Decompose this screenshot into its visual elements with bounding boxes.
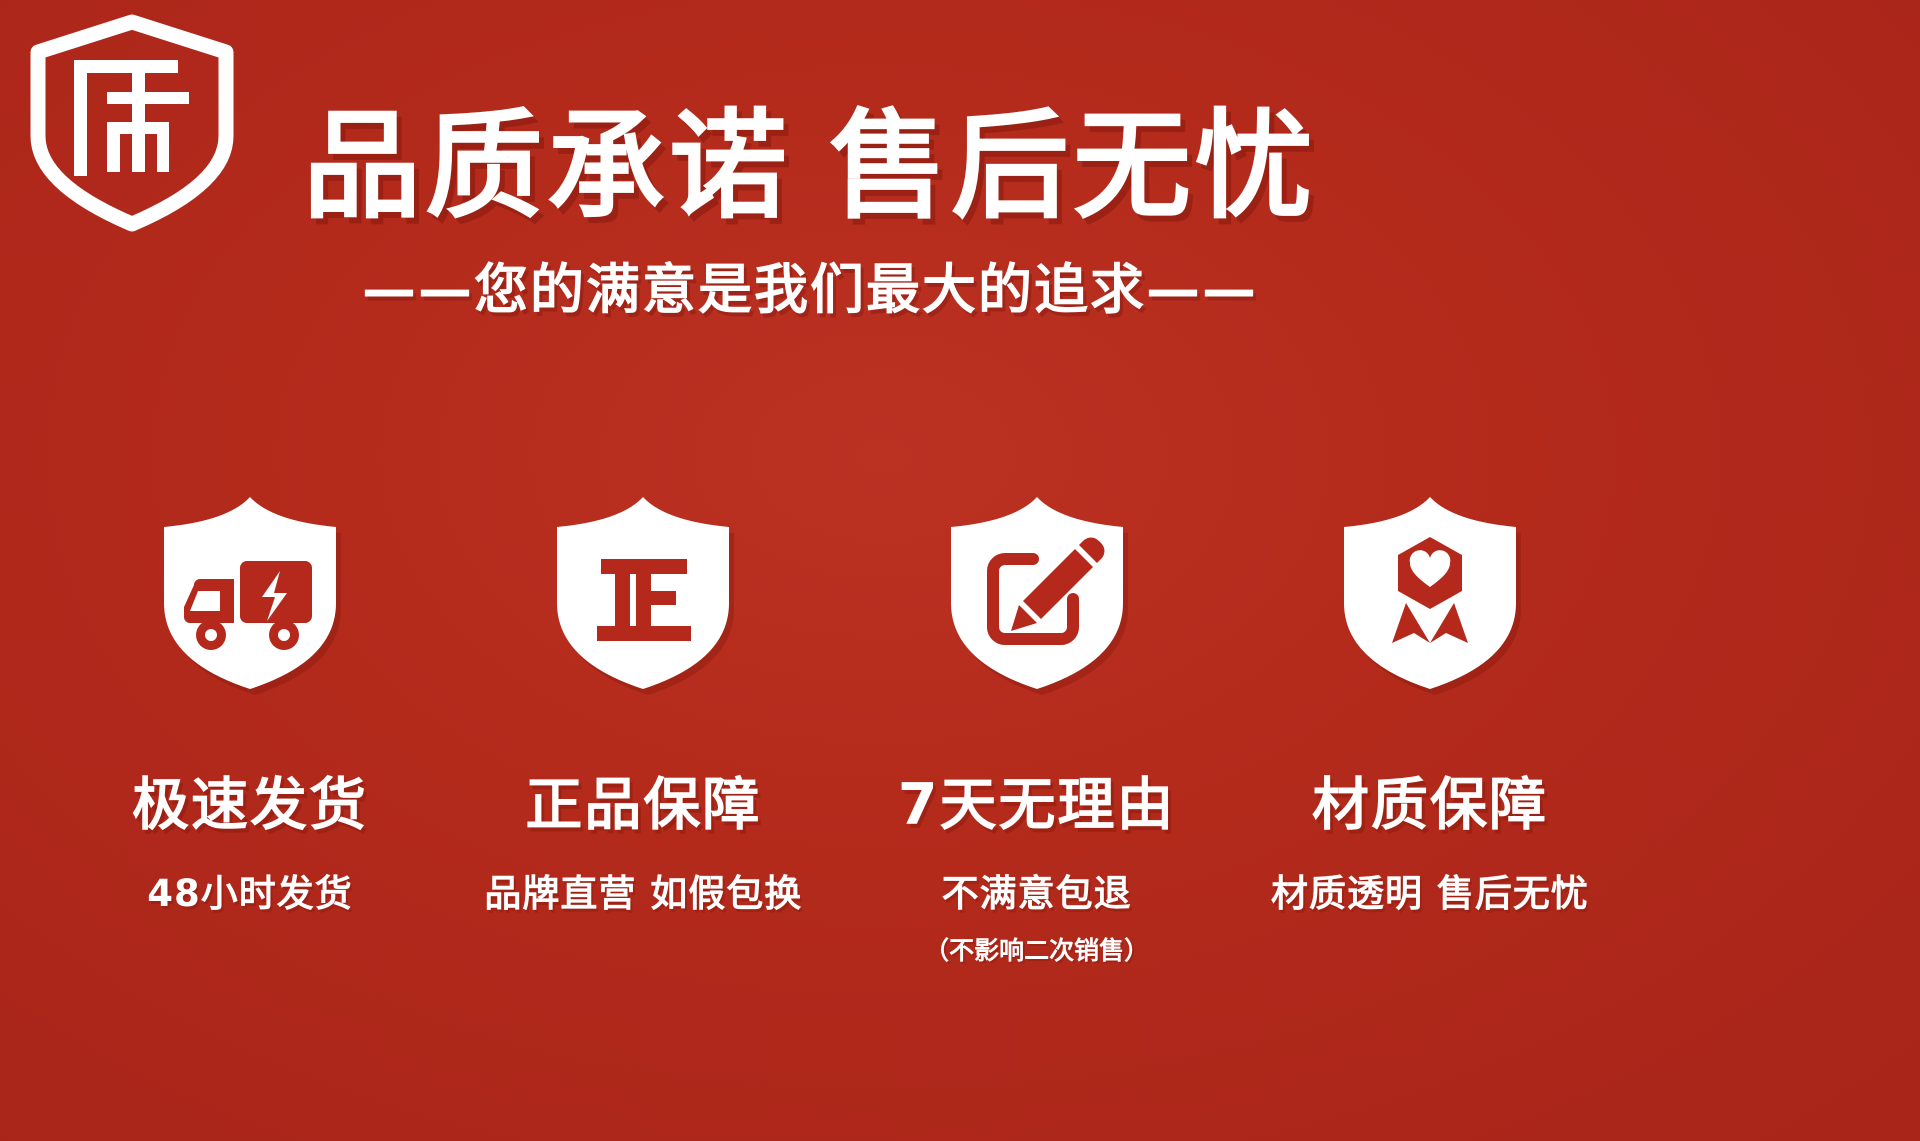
feature-subtitle: 48小时发货 — [147, 863, 353, 917]
feature-item: 7天无理由 不满意包退 （不影响二次销售） — [847, 495, 1227, 967]
feature-item: 极速发货 48小时发货 — [60, 495, 440, 931]
shield-pencil-edit-icon — [949, 495, 1125, 691]
shield-award-ribbon-icon — [1342, 495, 1518, 691]
headline-block: 品质承诺售后无忧 ——您的满意是我们最大的追求—— — [300, 100, 1320, 323]
quality-shield-logo — [12, 8, 252, 238]
feature-list: 极速发货 48小时发货 正品保障 — [60, 495, 1620, 967]
feature-title: 极速发货 — [132, 759, 368, 841]
feature-note: （不影响二次销售） — [924, 931, 1149, 967]
feature-title: 7天无理由 — [898, 759, 1176, 841]
feature-title: 材质保障 — [1312, 759, 1548, 841]
page-title: 品质承诺售后无忧 — [300, 100, 1320, 232]
shield-truck-lightning-icon — [162, 495, 338, 691]
headline-subtitle: ——您的满意是我们最大的追求—— — [300, 258, 1320, 323]
shield-zheng-character-icon — [555, 495, 731, 691]
feature-subtitle: 材质透明 售后无忧 — [1271, 863, 1589, 917]
feature-title: 正品保障 — [525, 759, 761, 841]
headline-part2: 售后无忧 — [829, 97, 1317, 235]
feature-subtitle: 品牌直营 如假包换 — [484, 863, 802, 917]
headline-part1: 品质承诺 — [303, 97, 791, 235]
quality-promise-banner: 品质承诺售后无忧 ——您的满意是我们最大的追求—— — [0, 0, 1920, 1141]
feature-item: 材质保障 材质透明 售后无忧 — [1240, 495, 1620, 931]
feature-item: 正品保障 品牌直营 如假包换 — [453, 495, 833, 931]
feature-subtitle: 不满意包退 — [942, 863, 1132, 917]
